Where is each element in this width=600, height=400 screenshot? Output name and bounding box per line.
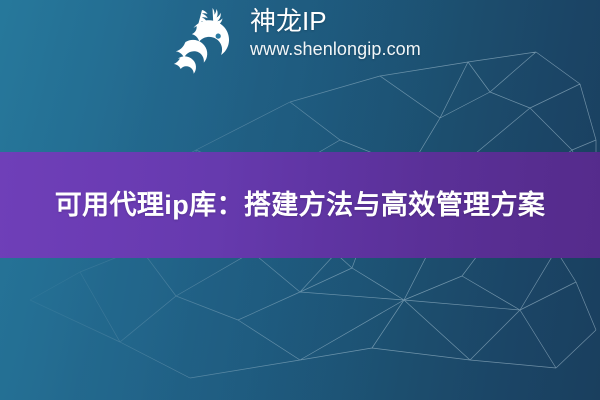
brand-text-lockup: 神龙IP www.shenlongip.com <box>250 4 421 60</box>
dragon-head-icon <box>172 6 246 76</box>
page-title: 可用代理ip库：搭建方法与高效管理方案 <box>30 186 570 224</box>
title-banner: 可用代理ip库：搭建方法与高效管理方案 <box>0 152 600 258</box>
brand-name: 神龙IP <box>250 7 421 35</box>
brand-url: www.shenlongip.com <box>250 38 421 60</box>
brand-logo: 神龙IP www.shenlongip.com <box>172 4 421 76</box>
promo-banner-image: 神龙IP www.shenlongip.com 可用代理ip库：搭建方法与高效管… <box>0 0 600 400</box>
